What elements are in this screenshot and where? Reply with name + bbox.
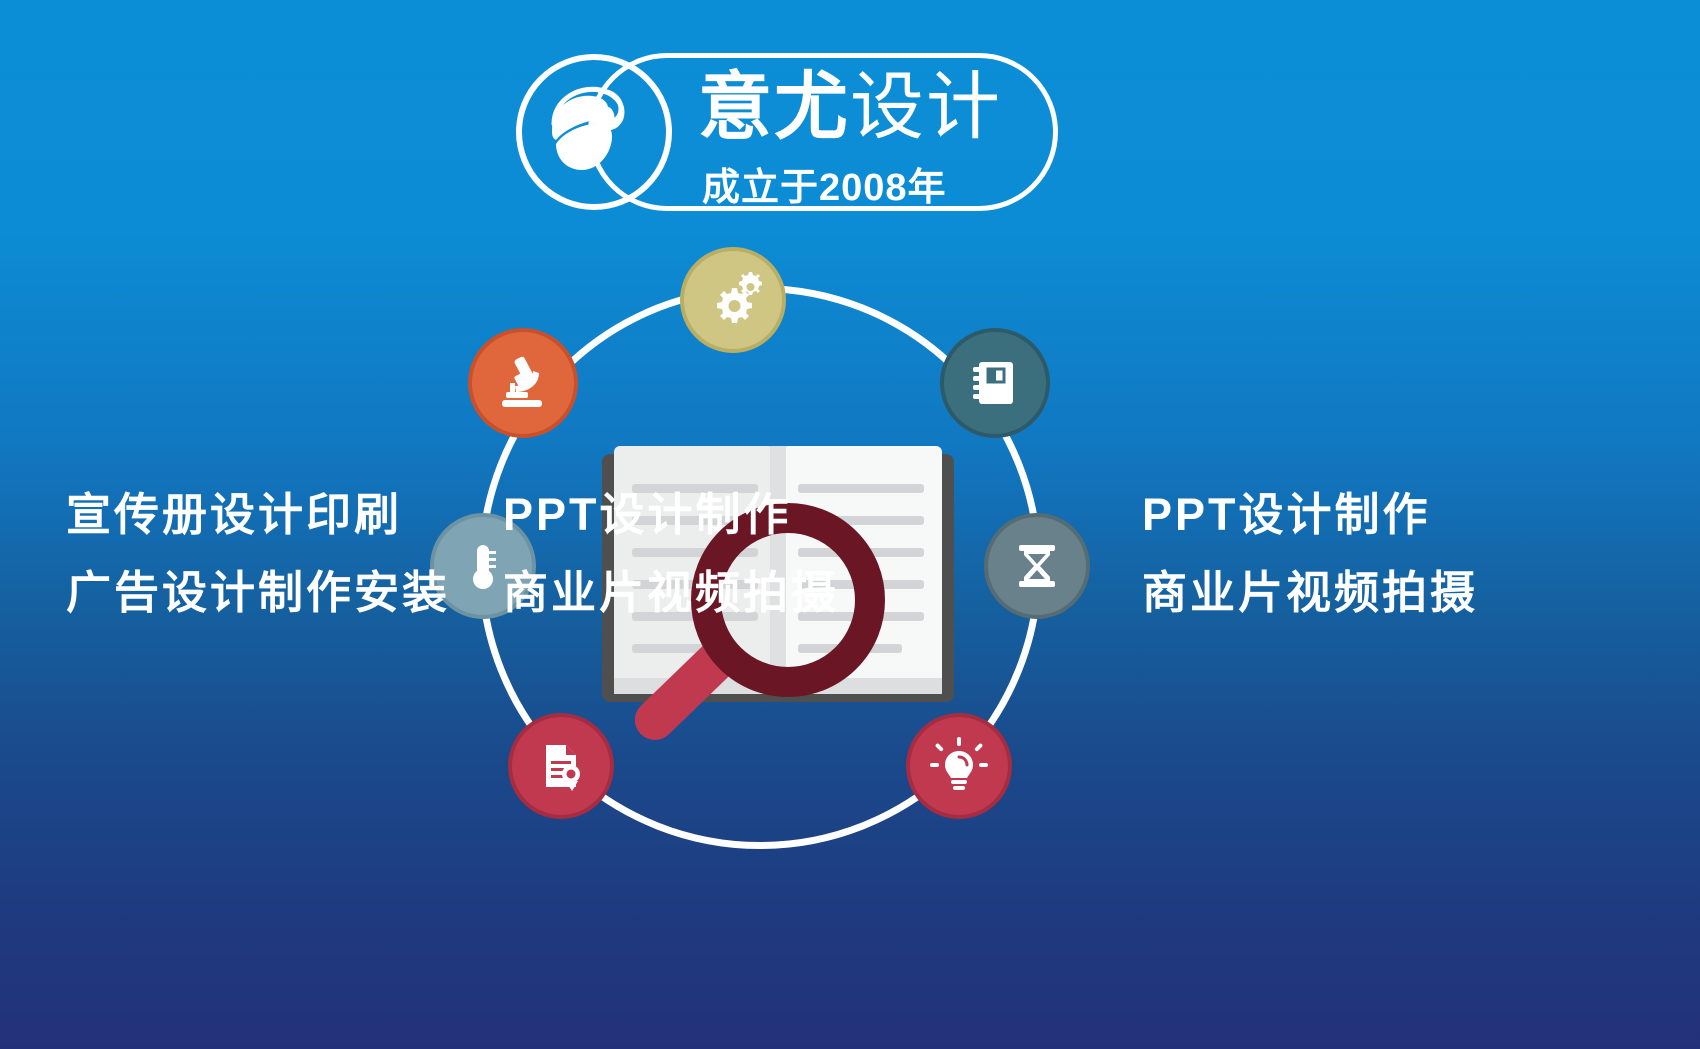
node-hourglass[interactable] [984,513,1090,619]
node-gear[interactable] [680,247,786,353]
certificate-icon [534,739,588,793]
logo-name-bold: 意尤 [698,65,850,148]
logo-badge: 意尤设计 成立于2008年 [516,53,1064,215]
node-notebook[interactable] [940,328,1050,438]
text-block-left: 宣传册设计印刷 广告设计制作安装 [66,476,450,632]
hourglass-icon [1010,539,1064,593]
text-center-line2: 商业片视频拍摄 [503,554,839,632]
leaf-bird-mark-icon [516,54,672,210]
gears-icon [703,270,763,330]
text-left-line1: 宣传册设计印刷 [66,476,450,554]
logo-wordmark: 意尤设计 [698,63,1048,151]
logo-tagline: 成立于2008年 [702,156,947,211]
notebook-icon [966,354,1024,412]
text-center-line1: PPT设计制作 [503,476,839,554]
thermometer-icon [456,539,510,593]
text-block-center: PPT设计制作 商业片视频拍摄 [503,476,839,632]
text-right-line1: PPT设计制作 [1142,476,1478,554]
text-left-line2: 广告设计制作安装 [66,554,450,632]
text-block-right: PPT设计制作 商业片视频拍摄 [1142,476,1478,632]
slide-canvas: 意尤设计 成立于2008年 [0,0,1700,1049]
microscope-icon [492,352,554,414]
text-right-line2: 商业片视频拍摄 [1142,554,1478,632]
logo-name-thin: 设计 [850,65,1002,148]
node-microscope[interactable] [468,328,578,438]
